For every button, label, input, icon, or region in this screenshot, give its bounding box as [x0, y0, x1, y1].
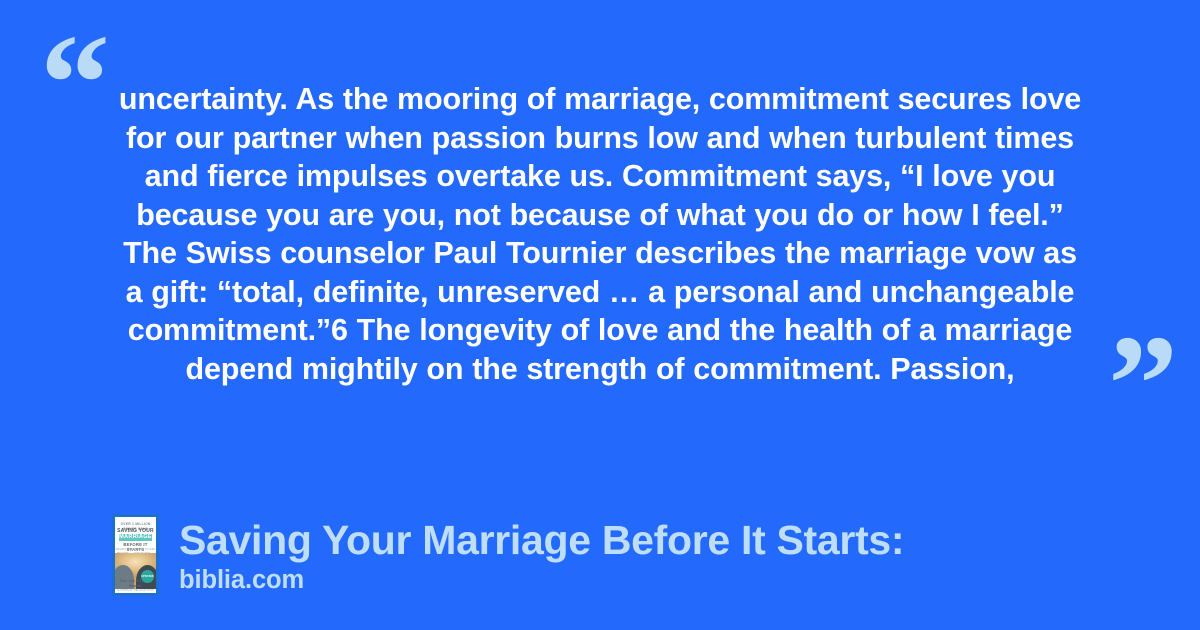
book-cover-title-line2: MARRIAGE	[119, 534, 152, 541]
open-quote-icon: “	[40, 14, 110, 154]
footer-text-group: Saving Your Marriage Before It Starts: b…	[179, 516, 904, 595]
book-cover-authors-subtitle: AUTHORS OF THE GOOD FIGHT	[115, 589, 156, 592]
book-cover-badge: UPDATED	[141, 570, 154, 583]
quote-text: uncertainty. As the mooring of marriage,…	[112, 80, 1088, 388]
close-quote-icon: ”	[1108, 315, 1178, 455]
site-name[interactable]: biblia.com	[179, 565, 904, 595]
book-cover-art: OVER 1 MILLION COPIES SOLD SAVING YOUR M…	[115, 517, 156, 593]
book-cover-thumbnail[interactable]: OVER 1 MILLION COPIES SOLD SAVING YOUR M…	[112, 514, 159, 596]
footer-bar: OVER 1 MILLION COPIES SOLD SAVING YOUR M…	[112, 514, 904, 596]
book-title: Saving Your Marriage Before It Starts:	[179, 516, 904, 564]
quote-card: “ uncertainty. As the mooring of marriag…	[0, 0, 1200, 630]
